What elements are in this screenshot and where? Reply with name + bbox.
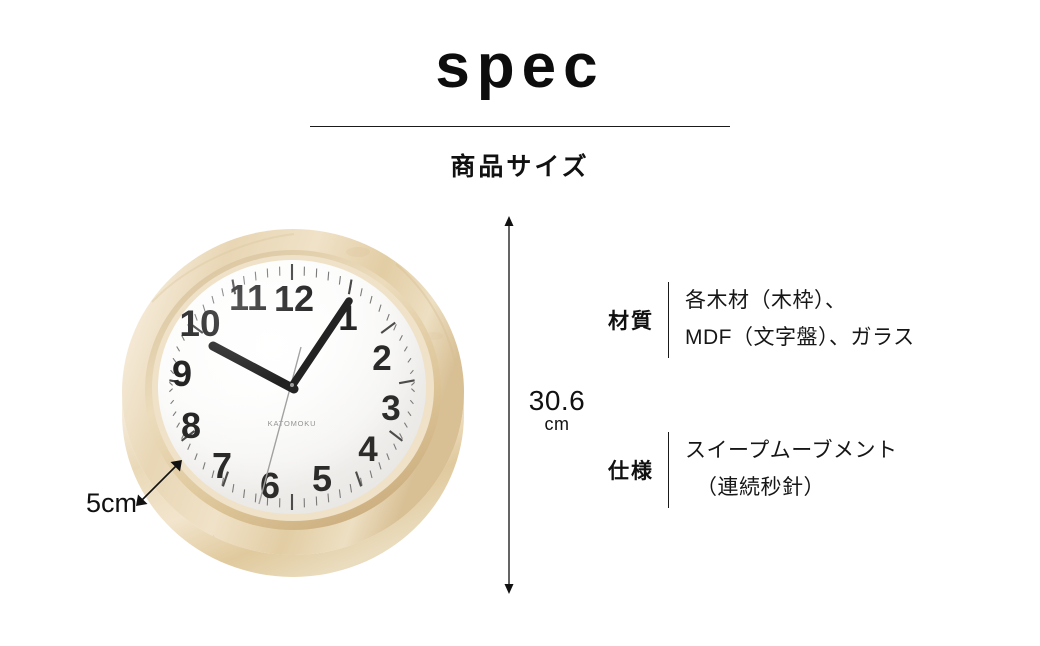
spec-divider-movement [668,432,669,508]
spec-row-movement: 仕様 スイープムーブメント （連続秒針） [592,432,897,508]
glass-reflection [158,260,426,514]
spec-value-movement: スイープムーブメント （連続秒針） [685,433,897,507]
spec-term-material: 材質 [592,305,654,335]
spec-term-movement: 仕様 [592,455,654,485]
title-divider [310,126,730,127]
spec-row-material: 材質 各木材（木枠）、 MDF（文字盤）、ガラス [592,282,915,358]
depth-measurement-label: 5cm [86,488,137,519]
arrow-head-top [505,216,514,226]
header: spec 商品サイズ [0,0,1040,183]
spec-value-material: 各木材（木枠）、 MDF（文字盤）、ガラス [685,283,915,357]
clock-dial: 12 1 2 3 4 5 6 7 8 9 10 11 KATOMOKU [158,260,426,514]
height-measurement-label: 30.6 cm [514,386,600,434]
height-unit: cm [514,415,600,434]
arrow-head-bottom [505,584,514,594]
spec-divider-material [668,282,669,358]
height-value: 30.6 [514,386,600,415]
section-subtitle: 商品サイズ [0,147,1040,183]
clock-illustration: 12 1 2 3 4 5 6 7 8 9 10 11 KATOMOKU [96,206,496,596]
depth-dimension-line [128,452,190,514]
page-title: spec [0,36,1040,98]
product-image-wall-clock: 12 1 2 3 4 5 6 7 8 9 10 11 KATOMOKU [96,206,496,596]
